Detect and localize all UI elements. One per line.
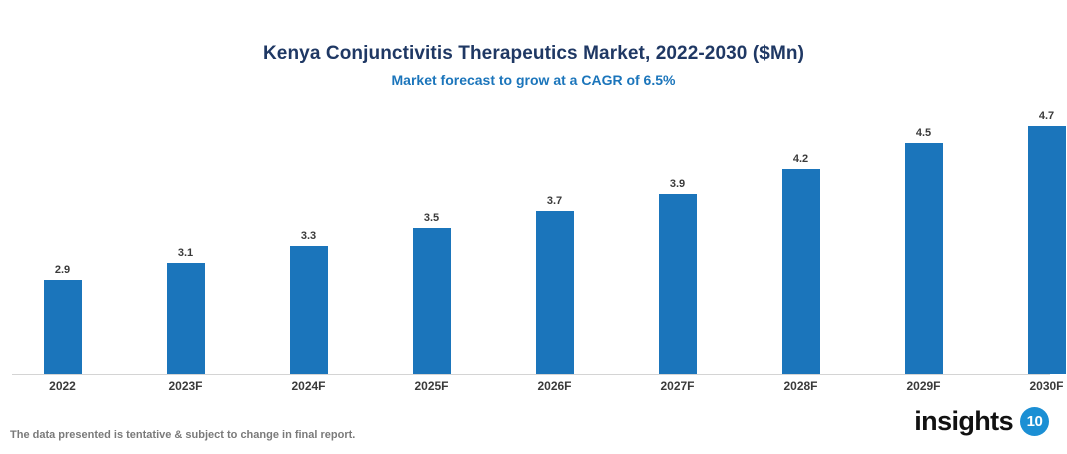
bar-group: 3.7 [493, 100, 616, 375]
bar-group: 2.9 [1, 100, 124, 375]
bar-value-label: 4.2 [793, 153, 808, 165]
bar[interactable] [536, 211, 574, 374]
bar-group: 3.1 [124, 100, 247, 375]
bar[interactable] [44, 280, 82, 374]
bar[interactable] [905, 143, 943, 374]
bar-group: 3.5 [370, 100, 493, 375]
bar[interactable] [1028, 126, 1066, 374]
bar-group: 4.7 [985, 100, 1067, 375]
bar[interactable] [659, 194, 697, 374]
bar-value-label: 3.7 [547, 195, 562, 207]
bar-value-label: 3.5 [424, 212, 439, 224]
bar[interactable] [167, 263, 205, 374]
bar-group: 4.2 [739, 100, 862, 375]
bar-value-label: 4.5 [916, 127, 931, 139]
chart-page: Kenya Conjunctivitis Therapeutics Market… [0, 0, 1067, 454]
bar-value-label: 3.1 [178, 247, 193, 259]
category-label: 2029F [862, 379, 985, 393]
category-label: 2026F [493, 379, 616, 393]
bar-value-label: 3.3 [301, 230, 316, 242]
logo-wordmark: insights [914, 408, 1013, 435]
category-label: 2030F [985, 379, 1067, 393]
bar-value-label: 4.7 [1039, 110, 1054, 122]
category-label: 2022 [1, 379, 124, 393]
bar-value-label: 2.9 [55, 264, 70, 276]
plot-area: 2.9 3.1 3.3 3.5 3.7 3.9 4.2 4.5 [0, 100, 1067, 375]
bar-group: 3.9 [616, 100, 739, 375]
disclaimer-text: The data presented is tentative & subjec… [10, 429, 355, 441]
logo-badge-icon: 10 [1020, 407, 1049, 436]
category-axis: 2022 2023F 2024F 2025F 2026F 2027F 2028F… [0, 376, 1067, 398]
category-label: 2028F [739, 379, 862, 393]
category-label: 2024F [247, 379, 370, 393]
insights10-logo: insights 10 [914, 407, 1049, 436]
category-label: 2023F [124, 379, 247, 393]
bar[interactable] [782, 169, 820, 375]
bar-group: 3.3 [247, 100, 370, 375]
bar-value-label: 3.9 [670, 178, 685, 190]
bar[interactable] [413, 228, 451, 374]
category-label: 2025F [370, 379, 493, 393]
chart-subtitle: Market forecast to grow at a CAGR of 6.5… [0, 72, 1067, 88]
bar-group: 4.5 [862, 100, 985, 375]
chart-title: Kenya Conjunctivitis Therapeutics Market… [0, 43, 1067, 65]
category-label: 2027F [616, 379, 739, 393]
bar[interactable] [290, 246, 328, 374]
